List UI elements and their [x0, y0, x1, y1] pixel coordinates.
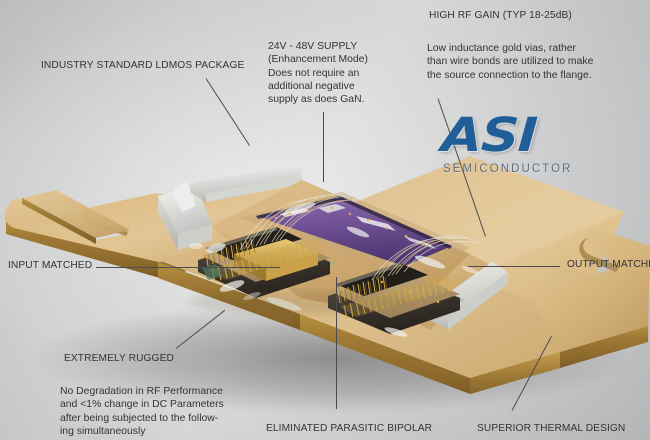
asi-logo: ASI SEMICONDUCTOR	[443, 112, 593, 184]
leader-output-matched	[468, 266, 560, 267]
leader-supply	[323, 112, 324, 182]
leader-input-matched	[96, 267, 280, 268]
illustration-canvas: INDUSTRY STANDARD LDMOS PACKAGE 24V - 48…	[0, 0, 650, 440]
callout-high-rf-gain: HIGH RF GAIN (TYP 18-25dB)	[429, 11, 572, 22]
asi-tagline: SEMICONDUCTOR	[443, 162, 593, 175]
callout-gold-vias-block: Low inductance gold vias, rather than wi…	[427, 42, 593, 82]
asi-wordmark: ASI	[440, 112, 611, 159]
callout-extremely-rugged: EXTREMELY RUGGED	[64, 354, 174, 365]
callout-output-matched: OUTPUT MATCHED	[567, 260, 650, 271]
callout-superior-thermal-design: SUPERIOR THERMAL DESIGN	[477, 424, 625, 435]
callout-rugged-block: No Degradation in RF Performance and <1%…	[60, 385, 224, 438]
leader-ldmos-package	[206, 78, 250, 146]
callout-eliminated-parasitic-bipolar: ELIMINATED PARASITIC BIPOLAR	[266, 424, 432, 435]
callout-input-matched: INPUT MATCHED	[8, 261, 92, 272]
callout-ldmos-package: INDUSTRY STANDARD LDMOS PACKAGE	[41, 61, 244, 72]
leader-eliminated-parasitic-bipolar	[336, 277, 337, 409]
callout-supply-block: 24V - 48V SUPPLY (Enhancement Mode) Does…	[268, 40, 368, 107]
